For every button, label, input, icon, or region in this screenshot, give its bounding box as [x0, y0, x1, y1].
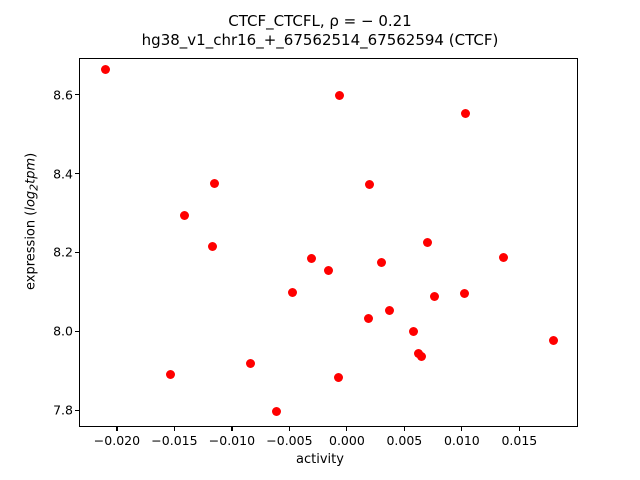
- y-axis-label-unit: tpm: [24, 158, 39, 184]
- scatter-point: [101, 65, 110, 74]
- scatter-point: [460, 289, 469, 298]
- scatter-point: [409, 327, 418, 336]
- x-tick-mark: [116, 427, 117, 431]
- x-tick-label: −0.005: [266, 433, 312, 448]
- scatter-point: [307, 254, 316, 263]
- chart-title: CTCF_CTCFL, ρ = − 0.21 hg38_v1_chr16_+_6…: [0, 12, 640, 50]
- y-tick-label: 8.4: [53, 166, 73, 181]
- scatter-point: [385, 306, 394, 315]
- y-tick-label: 8.2: [53, 245, 73, 260]
- y-tick-label: 8.0: [53, 324, 73, 339]
- x-tick-mark: [231, 427, 232, 431]
- scatter-point: [335, 91, 344, 100]
- y-axis-label-prefix: expression (: [24, 211, 39, 290]
- scatter-point: [461, 109, 470, 118]
- scatter-point: [324, 266, 333, 275]
- scatter-point: [180, 211, 189, 220]
- x-tick-label: 0.000: [329, 433, 365, 448]
- x-tick-label: 0.005: [386, 433, 422, 448]
- scatter-point: [549, 336, 558, 345]
- y-axis-label-log: log: [24, 191, 39, 211]
- x-tick-mark: [519, 427, 520, 431]
- scatter-point: [166, 370, 175, 379]
- scatter-point: [334, 373, 343, 382]
- y-tick-label: 7.8: [53, 403, 73, 418]
- y-tick-label: 8.6: [53, 87, 73, 102]
- x-tick-label: −0.010: [209, 433, 255, 448]
- plot-data-area: [80, 59, 577, 426]
- scatter-point: [377, 258, 386, 267]
- y-tick-mark: [75, 252, 79, 253]
- scatter-point: [364, 314, 373, 323]
- scatter-point: [210, 179, 219, 188]
- y-axis-label-suffix: ): [24, 153, 39, 158]
- x-tick-label: −0.020: [94, 433, 140, 448]
- scatter-point: [430, 292, 439, 301]
- x-tick-mark: [289, 427, 290, 431]
- scatter-point: [417, 352, 426, 361]
- chart-title-line-2: hg38_v1_chr16_+_67562514_67562594 (CTCF): [0, 31, 640, 50]
- x-tick-label: 0.015: [501, 433, 537, 448]
- y-tick-mark: [75, 173, 79, 174]
- scatter-point: [246, 359, 255, 368]
- scatter-point: [365, 180, 374, 189]
- x-tick-mark: [174, 427, 175, 431]
- y-axis-label-subscript: 2: [27, 184, 40, 191]
- x-tick-mark: [346, 427, 347, 431]
- scatter-point: [272, 407, 281, 416]
- x-tick-mark: [404, 427, 405, 431]
- x-axis-label: activity: [0, 452, 640, 467]
- y-tick-mark: [75, 410, 79, 411]
- scatter-point: [423, 238, 432, 247]
- y-tick-mark: [75, 331, 79, 332]
- x-tick-mark: [461, 427, 462, 431]
- x-tick-label: 0.010: [444, 433, 480, 448]
- scatter-point: [208, 242, 217, 251]
- scatter-figure: CTCF_CTCFL, ρ = − 0.21 hg38_v1_chr16_+_6…: [0, 0, 640, 480]
- scatter-point: [499, 253, 508, 262]
- y-tick-mark: [75, 94, 79, 95]
- plot-axes-frame: [79, 58, 578, 427]
- x-tick-label: −0.015: [151, 433, 197, 448]
- y-axis-label: expression (log2tpm): [24, 56, 41, 386]
- scatter-point: [288, 288, 297, 297]
- chart-title-line-1: CTCF_CTCFL, ρ = − 0.21: [0, 12, 640, 31]
